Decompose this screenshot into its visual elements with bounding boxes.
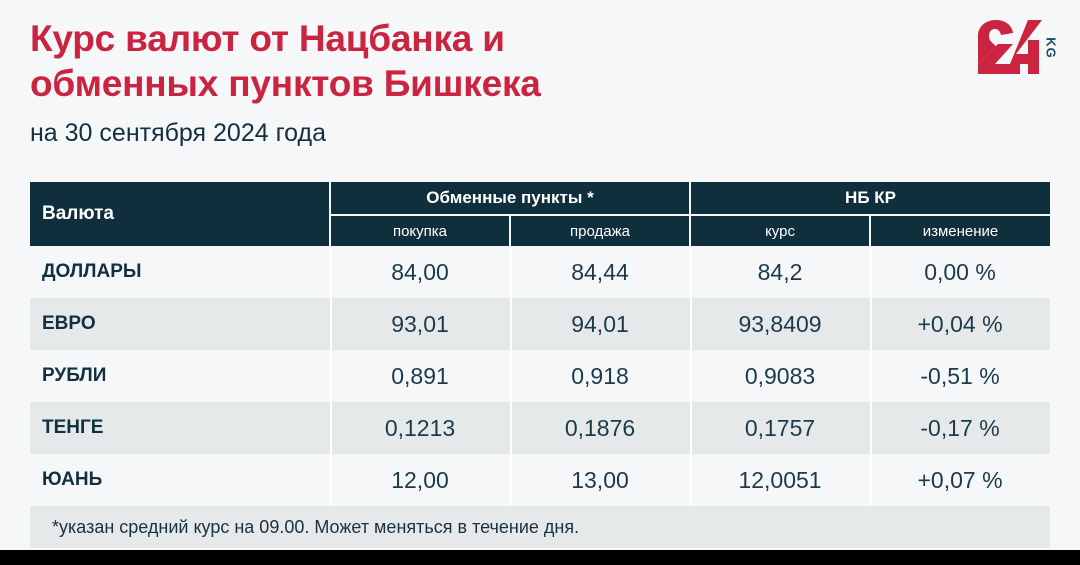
- cell-sell: 94,01: [510, 298, 690, 350]
- logo-digit-2: [978, 20, 1020, 74]
- table-row: ТЕНГЕ0,12130,18760,1757-0,17 %: [30, 402, 1050, 454]
- cell-sell: 13,00: [510, 454, 690, 506]
- table-header: Валюта Обменные пункты * НБ КР покупка п…: [30, 182, 1050, 246]
- cell-rate: 12,0051: [690, 454, 870, 506]
- cell-buy: 0,891: [330, 350, 510, 402]
- cell-buy: 93,01: [330, 298, 510, 350]
- infographic-page: Курс валют от Нацбанка и обменных пункто…: [0, 0, 1080, 565]
- column-header-currency: Валюта: [30, 182, 330, 246]
- column-group-exchange-points: Обменные пункты *: [330, 182, 690, 215]
- cell-buy: 0,1213: [330, 402, 510, 454]
- table-footnote: *указан средний курс на 09.00. Может мен…: [30, 506, 1050, 548]
- column-header-sell: продажа: [510, 215, 690, 246]
- cell-currency: ДОЛЛАРЫ: [30, 246, 330, 298]
- cell-sell: 84,44: [510, 246, 690, 298]
- table-row: ДОЛЛАРЫ84,0084,4484,20,00 %: [30, 246, 1050, 298]
- 24kg-logo: KG: [974, 20, 1056, 76]
- currency-rates-table: Валюта Обменные пункты * НБ КР покупка п…: [30, 182, 1050, 548]
- cell-sell: 0,918: [510, 350, 690, 402]
- table-row: РУБЛИ0,8910,9180,9083-0,51 %: [30, 350, 1050, 402]
- table-footer: *указан средний курс на 09.00. Может мен…: [30, 506, 1050, 548]
- header-block: Курс валют от Нацбанка и обменных пункто…: [30, 16, 970, 148]
- cell-change: +0,07 %: [870, 454, 1050, 506]
- cell-buy: 84,00: [330, 246, 510, 298]
- cell-currency: ТЕНГЕ: [30, 402, 330, 454]
- column-header-buy: покупка: [330, 215, 510, 246]
- table-header-row-groups: Валюта Обменные пункты * НБ КР: [30, 182, 1050, 215]
- page-title: Курс валют от Нацбанка и обменных пункто…: [30, 16, 970, 106]
- cell-change: -0,51 %: [870, 350, 1050, 402]
- cell-change: +0,04 %: [870, 298, 1050, 350]
- page-subtitle: на 30 сентября 2024 года: [30, 120, 970, 148]
- table-body: ДОЛЛАРЫ84,0084,4484,20,00 %ЕВРО93,0194,0…: [30, 246, 1050, 506]
- table-note-row: *указан средний курс на 09.00. Может мен…: [30, 506, 1050, 548]
- column-group-nbkr: НБ КР: [690, 182, 1050, 215]
- rates-table-container: Валюта Обменные пункты * НБ КР покупка п…: [30, 182, 1050, 548]
- cell-rate: 93,8409: [690, 298, 870, 350]
- cell-rate: 0,9083: [690, 350, 870, 402]
- cell-change: 0,00 %: [870, 246, 1050, 298]
- bottom-bar: [0, 550, 1080, 565]
- table-row: ЮАНЬ12,0013,0012,0051+0,07 %: [30, 454, 1050, 506]
- cell-rate: 84,2: [690, 246, 870, 298]
- cell-change: -0,17 %: [870, 402, 1050, 454]
- cell-currency: ЕВРО: [30, 298, 330, 350]
- cell-sell: 0,1876: [510, 402, 690, 454]
- cell-currency: ЮАНЬ: [30, 454, 330, 506]
- column-header-rate: курс: [690, 215, 870, 246]
- table-row: ЕВРО93,0194,0193,8409+0,04 %: [30, 298, 1050, 350]
- cell-buy: 12,00: [330, 454, 510, 506]
- cell-currency: РУБЛИ: [30, 350, 330, 402]
- column-header-change: изменение: [870, 215, 1050, 246]
- cell-rate: 0,1757: [690, 402, 870, 454]
- logo-kg-text: KG: [1044, 37, 1056, 59]
